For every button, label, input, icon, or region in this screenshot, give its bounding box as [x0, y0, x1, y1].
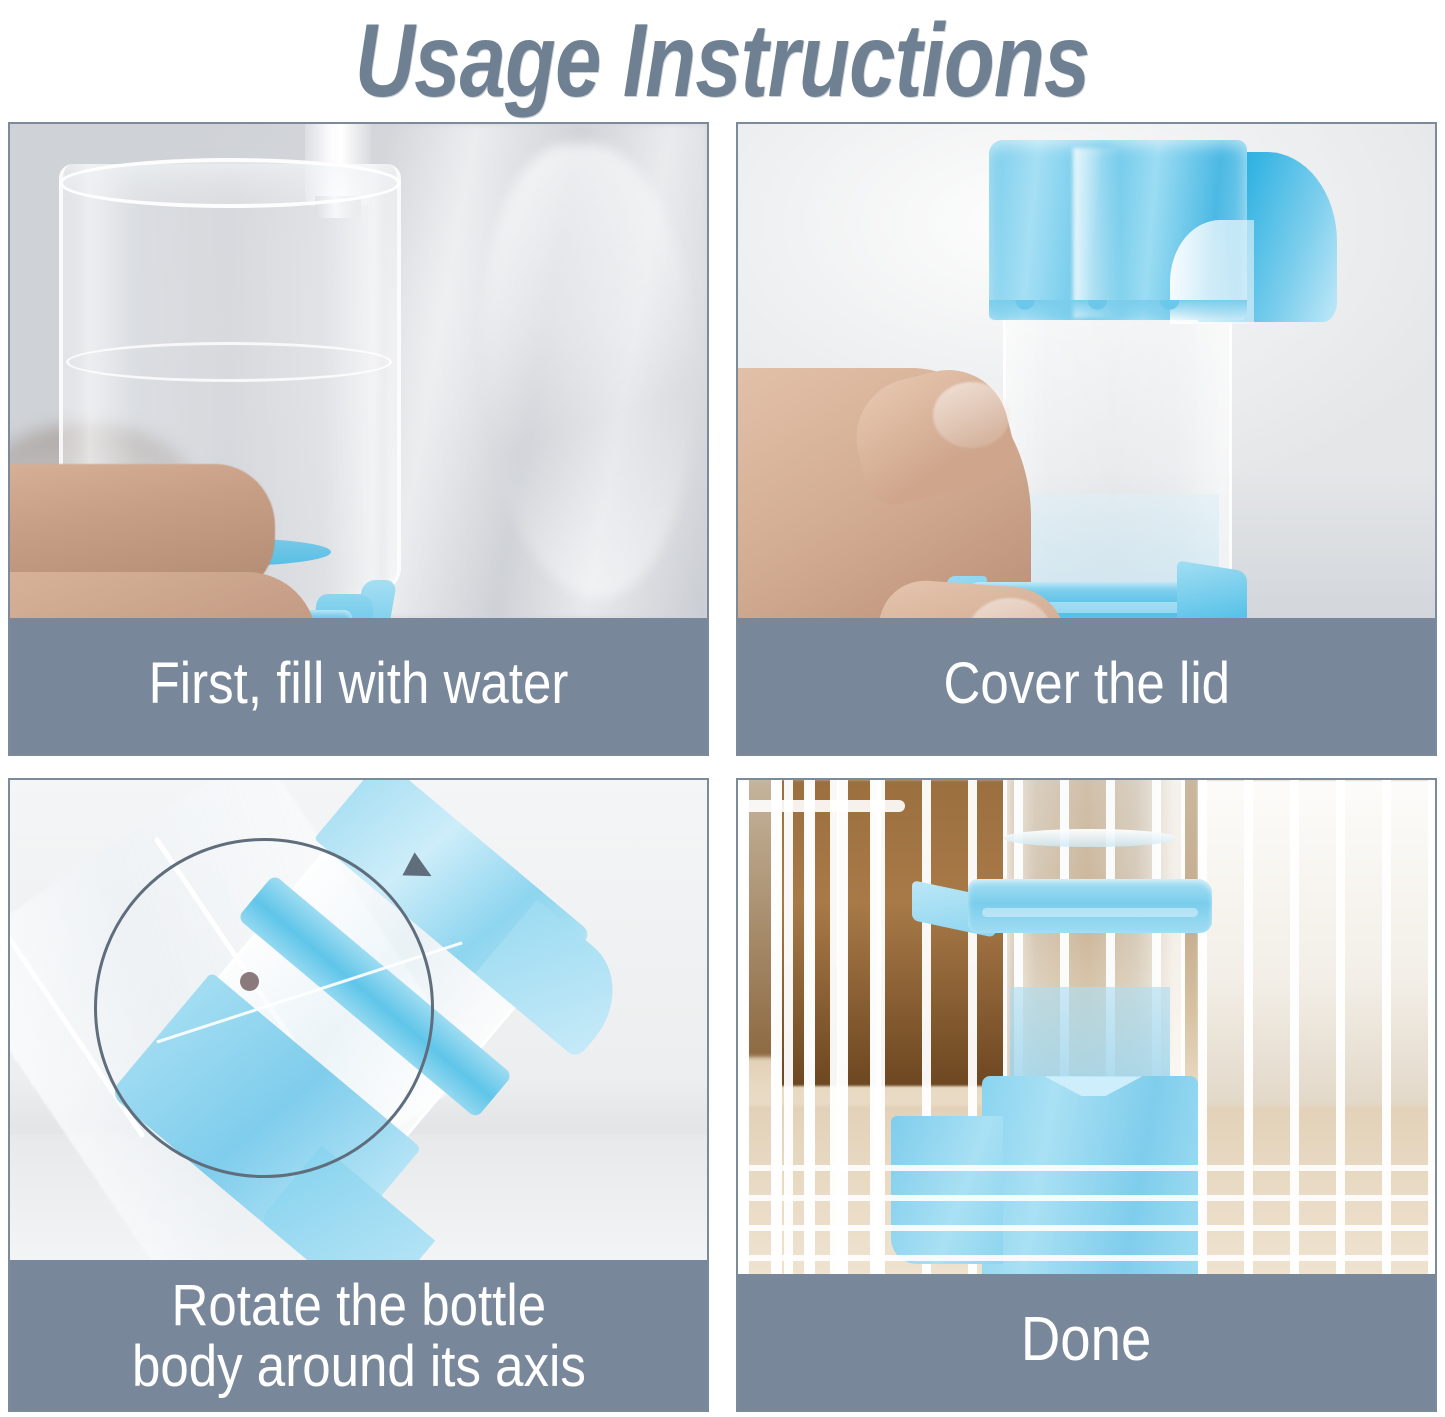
- step-2-caption: Cover the lid: [738, 618, 1435, 754]
- hand-fingers: [10, 572, 317, 618]
- clip-band-highlight: [982, 908, 1198, 917]
- step-2-photo: [738, 124, 1435, 618]
- rotation-circle-icon: [94, 838, 434, 1178]
- cage-top-rail: [738, 800, 905, 812]
- caption-line: Rotate the bottle: [171, 1276, 546, 1337]
- step-3-photo: [10, 780, 707, 1260]
- cage-floor-grid: [738, 1165, 1435, 1274]
- blue-clip-bracket: [968, 879, 1212, 933]
- caption-line: Cover the lid: [943, 654, 1230, 715]
- page-title: Usage Instructions: [355, 9, 1090, 113]
- bottle-rim: [59, 158, 402, 208]
- pivot-dot-icon: [240, 972, 259, 991]
- clip-tab-right: [1177, 560, 1247, 618]
- step-3-caption: Rotate the bottle body around its axis: [10, 1260, 707, 1410]
- caption-line: First, fill with water: [149, 654, 569, 715]
- title-bar: Usage Instructions: [0, 0, 1445, 122]
- instruction-step-2: Cover the lid: [736, 122, 1437, 756]
- instruction-panel-grid: First, fill with water Cover the lid: [8, 122, 1437, 1412]
- bottle-ring: [66, 342, 393, 382]
- step-4-photo: [738, 780, 1435, 1274]
- instruction-step-3: Rotate the bottle body around its axis: [8, 778, 709, 1412]
- caption-line: Done: [1021, 1307, 1151, 1372]
- lid-scalloped-edge: [989, 300, 1247, 330]
- instruction-step-1: First, fill with water: [8, 122, 709, 756]
- fingernail-highlight-upper: [933, 382, 1010, 448]
- step-1-photo: [10, 124, 707, 618]
- lid-highlight: [1073, 148, 1122, 318]
- step-1-caption: First, fill with water: [10, 618, 707, 754]
- caption-line: body around its axis: [132, 1337, 586, 1398]
- instruction-step-4: Done: [736, 778, 1437, 1412]
- step-4-caption: Done: [738, 1274, 1435, 1410]
